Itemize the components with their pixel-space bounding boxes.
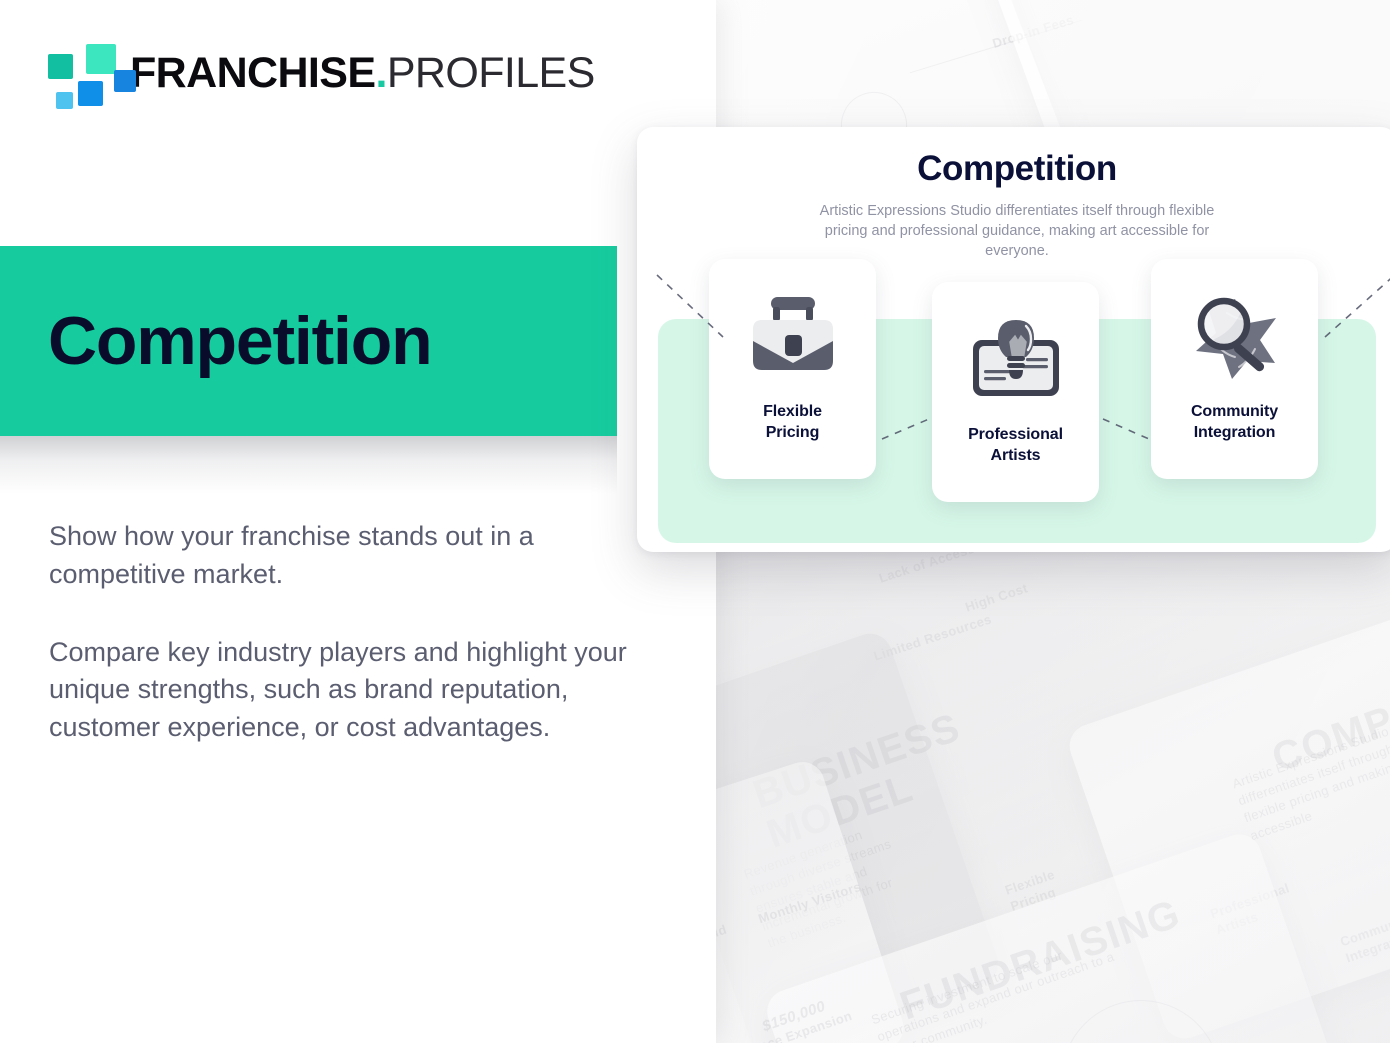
left-panel: FRANCHISE.PROFILES Competition Show how …	[0, 0, 716, 1043]
brand-name-dot: .	[375, 49, 386, 97]
banner-shadow	[0, 436, 617, 494]
body-paragraph-2: Compare key industry players and highlig…	[49, 634, 629, 747]
tile-community-integration[interactable]: Community Integration	[1151, 259, 1318, 479]
logo-mark-icon	[48, 44, 108, 102]
page-title: Competition	[0, 307, 431, 375]
tile-label-line2: Artists	[991, 447, 1041, 464]
preview-tiles: Flexible Pricing	[637, 127, 1390, 552]
tile-professional-artists[interactable]: Professional Artists	[932, 282, 1099, 502]
tile-label-line1: Flexible	[763, 403, 822, 420]
brand-name-bold: FRANCHISE	[130, 49, 375, 97]
body-copy: Show how your franchise stands out in a …	[49, 518, 629, 747]
slide-preview-card[interactable]: Competition Artistic Expressions Studio …	[637, 127, 1390, 552]
magnifier-star-icon	[1183, 283, 1287, 395]
brand-logo[interactable]: FRANCHISE.PROFILES	[48, 44, 595, 102]
body-paragraph-1: Show how your franchise stands out in a …	[49, 518, 629, 594]
brand-wordmark: FRANCHISE.PROFILES	[130, 52, 595, 95]
background-wedge	[716, 540, 1390, 1043]
section-banner: Competition	[0, 246, 617, 436]
tile-label-line2: Pricing	[766, 424, 820, 441]
tile-label-line1: Community	[1191, 403, 1278, 420]
briefcase-icon	[741, 283, 845, 395]
tile-flexible-pricing[interactable]: Flexible Pricing	[709, 259, 876, 479]
tile-label: Flexible Pricing	[755, 401, 830, 443]
tile-label-line1: Professional	[968, 426, 1063, 443]
brand-name-light: PROFILES	[387, 49, 595, 97]
slide-stage: Drop-in Fees Session Workshops Commissio…	[0, 0, 1390, 1043]
tile-label-line2: Integration	[1194, 424, 1276, 441]
tile-label: Professional Artists	[960, 424, 1071, 466]
tile-label: Community Integration	[1183, 401, 1286, 443]
lightbulb-board-icon	[964, 306, 1068, 418]
